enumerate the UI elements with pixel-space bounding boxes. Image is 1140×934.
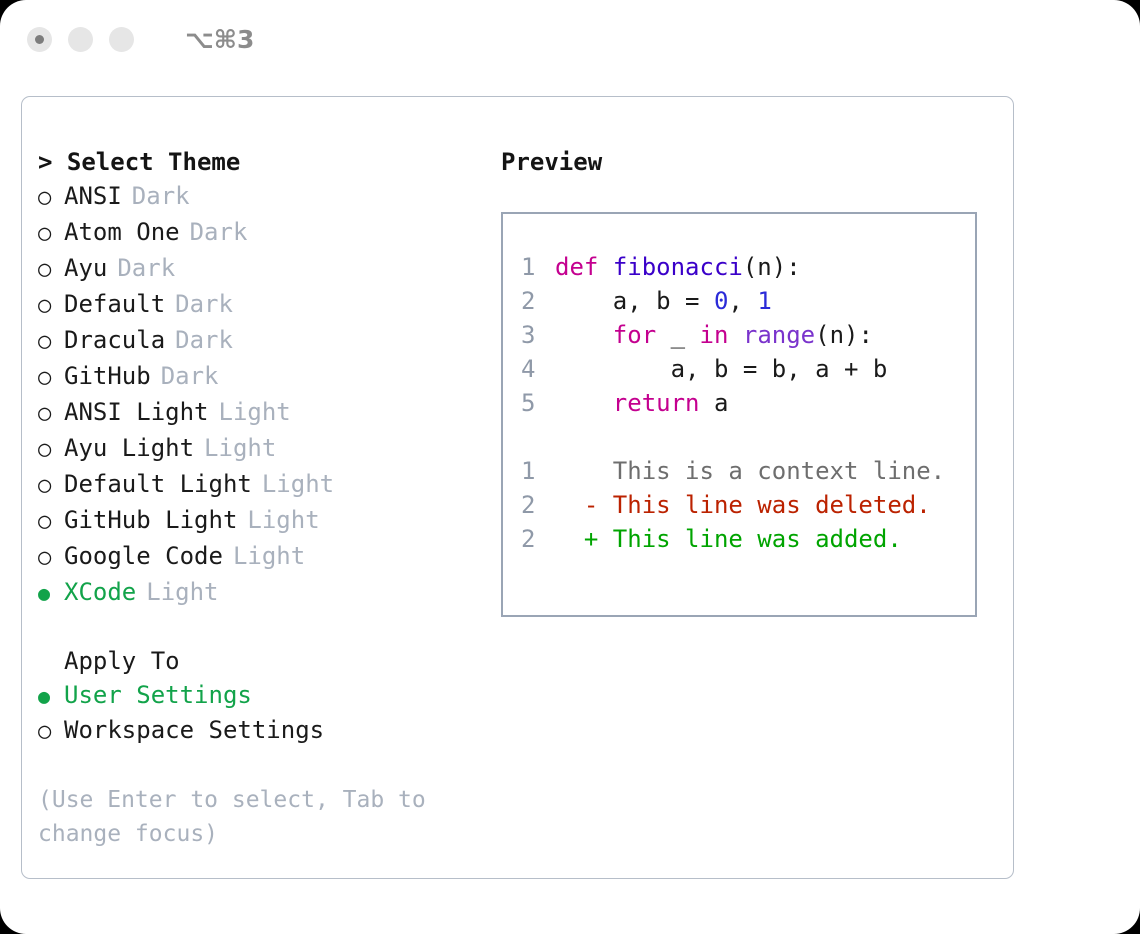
- diff-line-content: This is a context line.: [555, 454, 945, 488]
- theme-option-label: Atom One: [64, 215, 180, 249]
- code-token: return: [613, 389, 700, 417]
- theme-option-tag: Light: [146, 575, 218, 609]
- code-line-number: 3: [521, 318, 555, 352]
- dialog-card: > Select Theme ○ANSIDark○Atom OneDark○Ay…: [21, 96, 1014, 879]
- code-line-number: 2: [521, 284, 555, 318]
- code-token: a: [700, 389, 729, 417]
- window-dot-third[interactable]: [109, 27, 134, 52]
- code-token: [728, 321, 742, 349]
- window-dot-active-inner: [35, 35, 44, 44]
- theme-option-tag: Light: [247, 503, 319, 537]
- diff-line-number: 1: [521, 454, 555, 488]
- code-token: [555, 389, 613, 417]
- diff-line-number: 2: [521, 522, 555, 556]
- code-token: fibonacci: [613, 253, 743, 281]
- diff-line: 1 This is a context line.: [521, 454, 975, 488]
- radio-unselected-icon: ○: [38, 181, 64, 215]
- apply-to-option-user-settings[interactable]: ●User Settings: [38, 678, 498, 713]
- theme-option-google-code[interactable]: ○Google CodeLight: [38, 539, 498, 575]
- diff-line: 2 + This line was added.: [521, 522, 975, 556]
- theme-list[interactable]: ○ANSIDark○Atom OneDark○AyuDark○DefaultDa…: [38, 179, 498, 610]
- diff-line-number: 2: [521, 488, 555, 522]
- keyboard-shortcut-label: ⌥⌘3: [185, 25, 254, 54]
- window-dot-second[interactable]: [68, 27, 93, 52]
- list-spacer: [38, 610, 498, 644]
- radio-unselected-icon: ○: [38, 397, 64, 431]
- theme-option-tag: Light: [262, 467, 334, 501]
- theme-option-atom-one[interactable]: ○Atom OneDark: [38, 215, 498, 251]
- code-token: 0: [714, 287, 728, 315]
- diff-sample: 1 This is a context line.2 - This line w…: [521, 454, 975, 556]
- diff-line-content: - This line was deleted.: [555, 488, 931, 522]
- diff-line: 2 - This line was deleted.: [521, 488, 975, 522]
- window-titlebar: ⌥⌘3: [0, 0, 1140, 78]
- select-theme-header: > Select Theme: [38, 145, 498, 179]
- code-line: 2 a, b = 0, 1: [521, 284, 975, 318]
- apply-to-option-label: Workspace Settings: [64, 713, 324, 747]
- theme-option-xcode[interactable]: ●XCodeLight: [38, 575, 498, 610]
- code-token: for: [613, 321, 656, 349]
- theme-option-tag: Light: [204, 431, 276, 465]
- theme-option-label: GitHub Light: [64, 503, 237, 537]
- window-dot-active[interactable]: [27, 27, 52, 52]
- theme-option-label: Ayu Light: [64, 431, 194, 465]
- theme-option-default-light[interactable]: ○Default LightLight: [38, 467, 498, 503]
- radio-selected-icon: ●: [38, 576, 64, 610]
- theme-option-github[interactable]: ○GitHubDark: [38, 359, 498, 395]
- keyboard-hint-text: (Use Enter to select, Tab to change focu…: [38, 783, 458, 851]
- code-token: _: [656, 321, 699, 349]
- theme-option-tag: Dark: [132, 179, 190, 213]
- theme-option-ayu-light[interactable]: ○Ayu LightLight: [38, 431, 498, 467]
- code-token: a, b = b, a + b: [555, 355, 887, 383]
- code-token: ,: [728, 287, 757, 315]
- theme-option-tag: Dark: [117, 251, 175, 285]
- radio-unselected-icon: ○: [38, 289, 64, 323]
- theme-option-default[interactable]: ○DefaultDark: [38, 287, 498, 323]
- code-token: 1: [757, 287, 771, 315]
- radio-selected-icon: ●: [38, 679, 64, 713]
- preview-title: Preview: [501, 145, 991, 179]
- code-line-number: 1: [521, 250, 555, 284]
- theme-option-label: ANSI: [64, 179, 122, 213]
- code-line-content: a, b = 0, 1: [555, 284, 772, 318]
- radio-unselected-icon: ○: [38, 433, 64, 467]
- theme-option-tag: Dark: [175, 323, 233, 357]
- preview-box: 1def fibonacci(n):2 a, b = 0, 13 for _ i…: [501, 212, 977, 617]
- preview-panel: Preview 1def fibonacci(n):2 a, b = 0, 13…: [501, 145, 991, 617]
- code-line-content: return a: [555, 386, 728, 420]
- theme-option-label: XCode: [64, 575, 136, 609]
- radio-unselected-icon: ○: [38, 469, 64, 503]
- radio-unselected-icon: ○: [38, 217, 64, 251]
- apply-to-option-label: User Settings: [64, 678, 252, 712]
- theme-option-tag: Dark: [175, 287, 233, 321]
- code-token: in: [700, 321, 729, 349]
- theme-option-label: ANSI Light: [64, 395, 209, 429]
- theme-option-label: Dracula: [64, 323, 165, 357]
- theme-option-tag: Dark: [190, 215, 248, 249]
- theme-option-label: Ayu: [64, 251, 107, 285]
- code-line-content: a, b = b, a + b: [555, 352, 887, 386]
- code-token: [555, 321, 613, 349]
- code-line-content: for _ in range(n):: [555, 318, 873, 352]
- theme-option-tag: Dark: [161, 359, 219, 393]
- radio-unselected-icon: ○: [38, 253, 64, 287]
- code-line-number: 5: [521, 386, 555, 420]
- theme-picker-panel: > Select Theme ○ANSIDark○Atom OneDark○Ay…: [38, 145, 498, 851]
- code-token: def: [555, 253, 598, 281]
- code-sample: 1def fibonacci(n):2 a, b = 0, 13 for _ i…: [521, 250, 975, 420]
- code-line: 4 a, b = b, a + b: [521, 352, 975, 386]
- code-line: 1def fibonacci(n):: [521, 250, 975, 284]
- theme-option-ansi-light[interactable]: ○ANSI LightLight: [38, 395, 498, 431]
- radio-unselected-icon: ○: [38, 541, 64, 575]
- code-line: 5 return a: [521, 386, 975, 420]
- theme-option-ansi[interactable]: ○ANSIDark: [38, 179, 498, 215]
- apply-to-list[interactable]: ●User Settings○Workspace Settings: [38, 678, 498, 749]
- theme-option-tag: Light: [219, 395, 291, 429]
- radio-unselected-icon: ○: [38, 361, 64, 395]
- code-token: range: [743, 321, 815, 349]
- theme-option-github-light[interactable]: ○GitHub LightLight: [38, 503, 498, 539]
- code-line-number: 4: [521, 352, 555, 386]
- apply-to-option-workspace-settings[interactable]: ○Workspace Settings: [38, 713, 498, 749]
- radio-unselected-icon: ○: [38, 715, 64, 749]
- code-token: a, b =: [555, 287, 714, 315]
- code-line-content: def fibonacci(n):: [555, 250, 801, 284]
- radio-unselected-icon: ○: [38, 505, 64, 539]
- apply-to-header: Apply To: [38, 644, 498, 678]
- code-line: 3 for _ in range(n):: [521, 318, 975, 352]
- theme-option-label: Default Light: [64, 467, 252, 501]
- radio-unselected-icon: ○: [38, 325, 64, 359]
- code-diff-spacer: [521, 420, 975, 454]
- theme-option-label: Google Code: [64, 539, 223, 573]
- diff-line-content: + This line was added.: [555, 522, 902, 556]
- code-token: [598, 253, 612, 281]
- code-token: (n):: [815, 321, 873, 349]
- theme-option-dracula[interactable]: ○DraculaDark: [38, 323, 498, 359]
- theme-option-label: GitHub: [64, 359, 151, 393]
- theme-option-label: Default: [64, 287, 165, 321]
- app-window: ⌥⌘3 > Select Theme ○ANSIDark○Atom OneDar…: [0, 0, 1140, 934]
- theme-option-ayu[interactable]: ○AyuDark: [38, 251, 498, 287]
- code-token: (n):: [743, 253, 801, 281]
- theme-option-tag: Light: [233, 539, 305, 573]
